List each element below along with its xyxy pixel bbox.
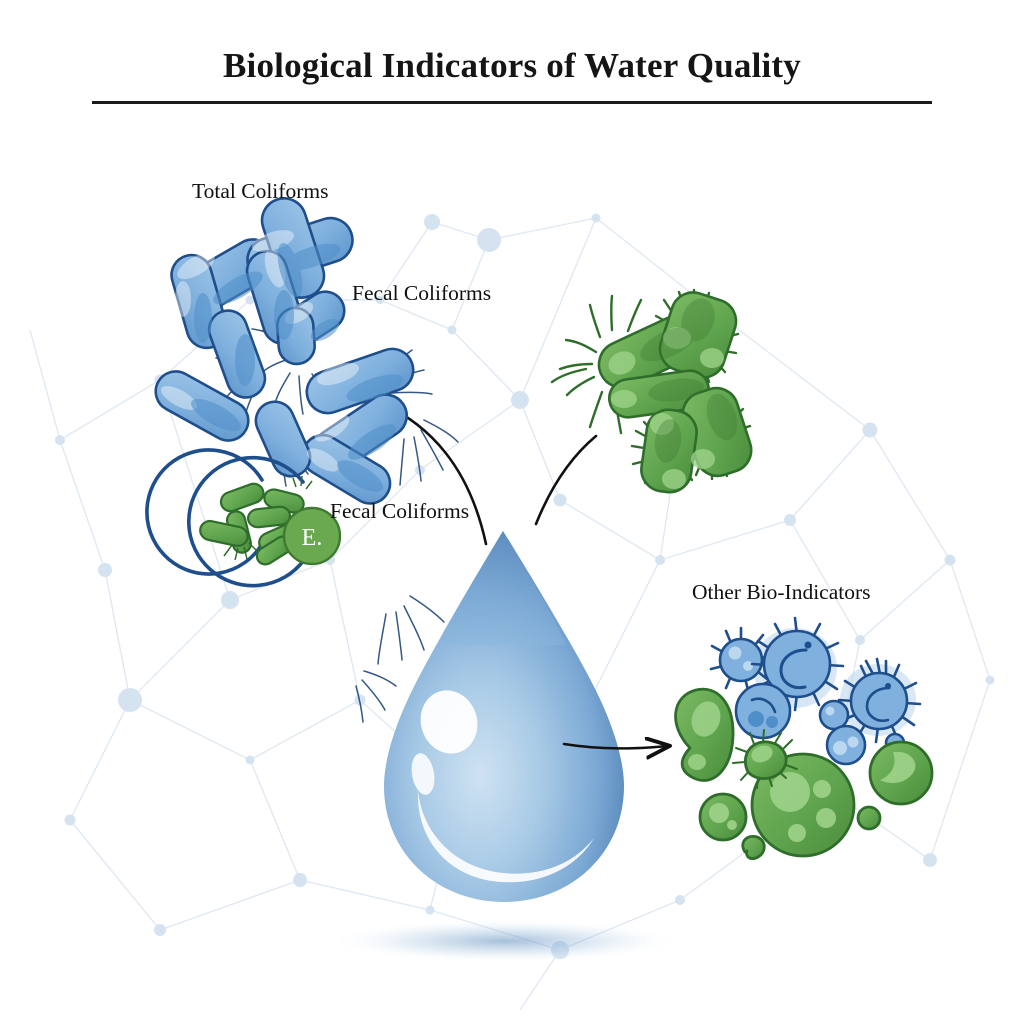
label-other-bio-indicators: Other Bio-Indicators — [692, 582, 871, 604]
title-divider — [92, 101, 932, 104]
petri-circle-outline — [147, 450, 262, 574]
virus-group — [711, 618, 920, 764]
fecal-coliforms-cluster — [552, 287, 757, 495]
ecoli-badge-label: E. — [302, 525, 323, 551]
poster-title-wrap: Biological Indicators of Water Quality — [0, 44, 1024, 88]
droplet-shadow — [327, 919, 683, 963]
arrow-droplet-to-fecal-coliforms — [536, 436, 596, 524]
algae-cell — [700, 794, 746, 840]
algae-cell — [870, 742, 932, 804]
virus-particle — [820, 701, 848, 729]
virus-particle — [736, 684, 790, 738]
other-bio-indicators-cluster — [676, 618, 932, 859]
bacterium-rod — [250, 396, 316, 483]
algae-cell — [743, 836, 764, 858]
algae-cell — [858, 807, 880, 829]
label-total-coliforms: Total Coliforms — [192, 181, 328, 203]
label-fecal-coliforms-lower: Fecal Coliforms — [330, 501, 469, 523]
label-fecal-coliforms-upper: Fecal Coliforms — [352, 283, 491, 305]
infographic-artwork: E. — [0, 0, 1024, 1024]
droplet-tip-shade — [440, 531, 566, 645]
virus-particle — [827, 726, 865, 764]
total-coliforms-cluster — [149, 193, 458, 722]
page-title: Biological Indicators of Water Quality — [0, 44, 1024, 88]
infographic-poster: E. — [0, 0, 1024, 1024]
